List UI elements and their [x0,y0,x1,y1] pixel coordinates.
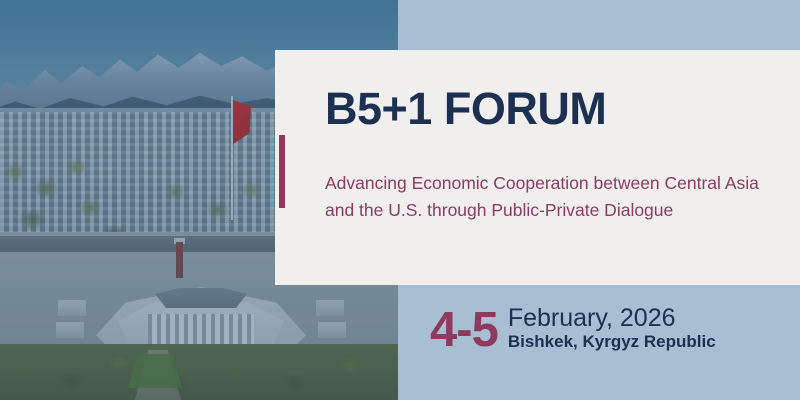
event-date-block: 4-5 February, 2026 Bishkek, Kyrgyz Repub… [430,305,716,354]
event-location: Bishkek, Kyrgyz Republic [508,332,716,352]
page-title: B5+1 FORUM [325,86,606,131]
event-banner: B5+1 FORUM Advancing Economic Cooperatio… [0,0,800,400]
event-date-details: February, 2026 Bishkek, Kyrgyz Republic [508,305,716,354]
page-subtitle: Advancing Economic Cooperation between C… [325,170,777,224]
maroon-accent-bar [279,135,285,208]
event-month-year: February, 2026 [508,305,716,332]
event-days: 4-5 [430,308,498,353]
